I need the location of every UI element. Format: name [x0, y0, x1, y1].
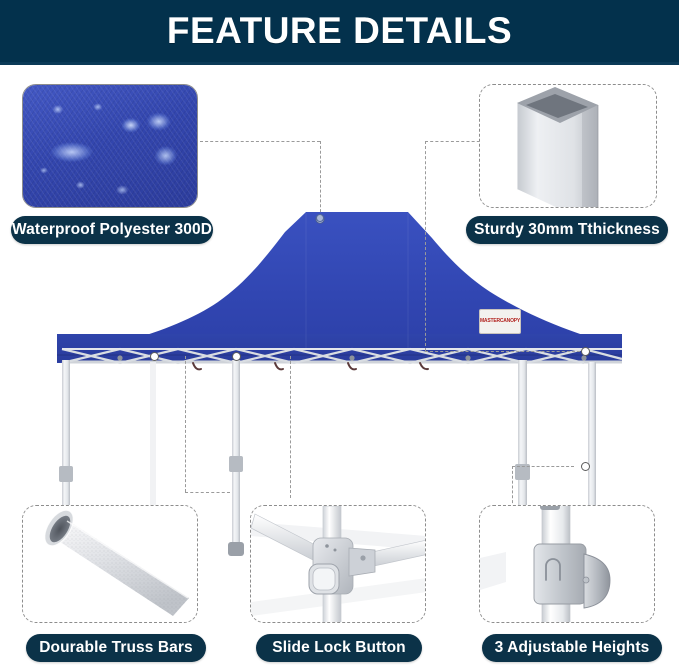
feature-details-infographic: FEATURE DETAILS — [0, 0, 679, 665]
water-beading-fabric-image — [23, 85, 197, 207]
leader-line-truss-v — [185, 356, 186, 492]
leader-line-height-v — [512, 466, 513, 508]
brand-logo-text: MASTERCANOPY — [480, 319, 520, 325]
anchor-dot-waterproof — [316, 214, 324, 222]
brand-logo-badge: MASTERCANOPY — [479, 309, 521, 334]
leg-mid-left — [228, 360, 244, 556]
anchor-dot-lock — [232, 352, 241, 361]
feature-label-text: Dourable Truss Bars — [39, 639, 193, 657]
anchor-dot-truss — [150, 352, 159, 361]
leader-line-lock-v — [290, 356, 291, 498]
feature-photo-adjustable-heights — [479, 505, 655, 623]
feature-photo-slide-lock-button — [250, 505, 426, 623]
feature-label-waterproof-polyester: Waterproof Polyester 300D — [11, 216, 213, 244]
feature-label-adjustable-heights: 3 Adjustable Heights — [482, 634, 662, 662]
feature-photo-sturdy-thickness — [479, 84, 657, 208]
oval-truss-bar-image — [23, 506, 198, 623]
square-steel-tube-image — [480, 85, 657, 208]
leader-line-thickness-h — [425, 141, 485, 142]
leg-height-push-button-image — [480, 506, 655, 623]
feature-label-sturdy-thickness: Sturdy 30mm Tthickness — [466, 216, 668, 244]
feature-label-text: Sturdy 30mm Tthickness — [474, 221, 660, 239]
page-title: FEATURE DETAILS — [167, 10, 512, 52]
leader-line-height-h — [512, 466, 574, 467]
leader-line-thickness-h2 — [425, 351, 585, 352]
anchor-dot-thickness — [581, 347, 590, 356]
truss-joint-slide-lock-image — [251, 506, 426, 623]
feature-label-text: Slide Lock Button — [272, 639, 405, 657]
feature-label-text: 3 Adjustable Heights — [495, 639, 650, 657]
header-banner: FEATURE DETAILS — [0, 0, 679, 62]
leg-back-left — [150, 362, 156, 512]
banner-divider — [0, 62, 679, 65]
feature-label-slide-lock-button: Slide Lock Button — [256, 634, 422, 662]
leader-line-truss-h — [185, 492, 230, 493]
feature-photo-durable-truss-bars — [22, 505, 198, 623]
feature-label-text: Waterproof Polyester 300D — [12, 221, 212, 239]
feature-label-durable-truss-bars: Dourable Truss Bars — [26, 634, 206, 662]
canopy-straps — [193, 363, 428, 369]
anchor-dot-height — [581, 462, 590, 471]
leader-line-waterproof-v — [320, 141, 321, 217]
leader-line-thickness-v — [425, 141, 426, 351]
feature-photo-waterproof-polyester — [22, 84, 198, 208]
leg-adjust-collar — [59, 466, 73, 482]
leader-line-waterproof-h — [200, 141, 320, 142]
